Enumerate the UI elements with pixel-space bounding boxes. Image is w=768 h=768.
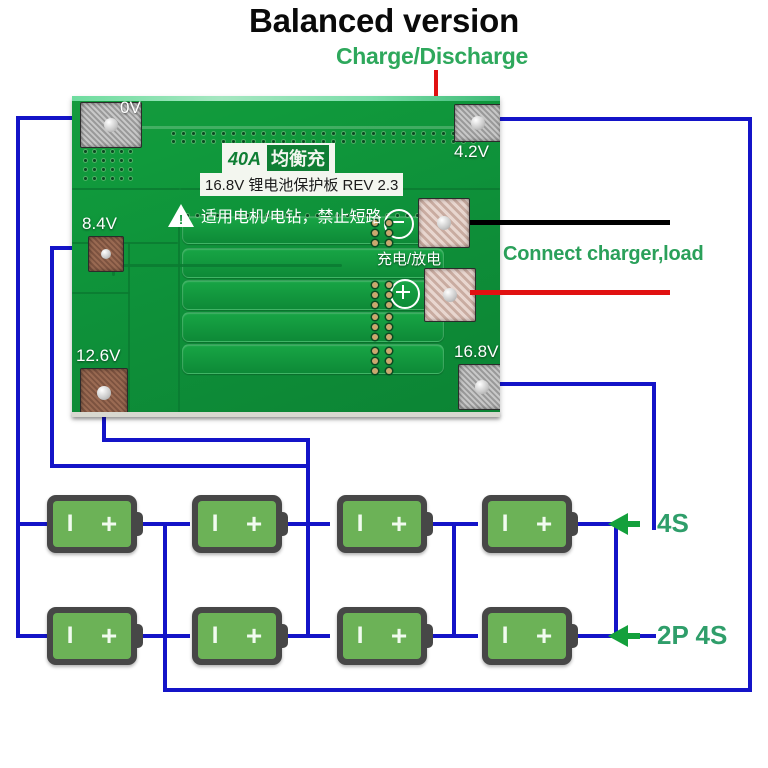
battery-terminal [424,624,433,648]
arrow-left-icon-2p4s [608,625,628,647]
diagram-canvas: Balanced version Charge/Discharge Connec… [0,0,768,768]
tap-label-16p8v: 16.8V [454,342,498,362]
battery-negative-mark: I [67,624,74,648]
connect-charger-load-label: Connect charger,load [503,243,704,266]
wire-parallel-3 [306,522,310,638]
battery-cell[interactable]: I + [482,495,572,553]
battery-terminal [569,624,578,648]
battery-row-label-4s: 4S [657,508,689,539]
pad-hole [101,249,111,259]
wire-negative-lead [470,220,670,225]
battery-terminal [134,512,143,536]
pcb-trace [112,264,342,267]
pcb-strip [182,312,444,342]
plus-circle-icon [390,279,420,309]
battery-negative-mark: I [67,512,74,536]
wire-right-rail [748,117,752,692]
tap-label-12p6v: 12.6V [76,346,120,366]
battery-terminal [134,624,143,648]
pcb-strip [182,344,444,374]
pad-hole [443,288,457,302]
pad-hole [104,118,118,132]
battery-body: I + [53,613,131,659]
bms-board: 40A均衡充 16.8V 锂电池保护板 REV 2.3 适用电机/电钻，禁止短路… [72,96,500,416]
battery-cell[interactable]: I + [47,495,137,553]
charge-discharge-label: Charge/Discharge [336,43,528,70]
battery-body: I + [488,613,566,659]
battery-terminal [424,512,433,536]
pcb-model-line: 16.8V 锂电池保护板 REV 2.3 [200,173,403,196]
pcb-bottom-edge [72,412,500,417]
wire-16p8v-v [652,382,656,530]
pad-16p8v [458,364,500,410]
pcb-trace [128,242,130,416]
tap-label-8p4v: 8.4V [82,214,117,234]
battery-positive-mark: + [246,622,262,650]
battery-body: I + [198,613,276,659]
pcb-trace [72,292,130,294]
battery-body: I + [343,613,421,659]
wire-12p6v-v2 [306,438,310,464]
pcb-trace [178,214,180,416]
pad-hole [475,380,489,394]
pcb-logo-badge: 均衡充 [267,145,329,171]
pad-hole [97,386,111,400]
battery-cell[interactable]: I + [337,607,427,665]
wire-positive-lead [470,290,670,295]
pcb-silk-line [108,126,458,129]
pad-terminal-positive [424,268,476,322]
battery-cell[interactable]: I + [192,607,282,665]
pad-hole [437,216,451,230]
battery-positive-mark: + [391,622,407,650]
wire-parallel-1 [16,522,20,638]
battery-terminal [279,512,288,536]
warning-triangle-icon [168,204,194,227]
arrow-tail [624,633,640,639]
wire-parallel-4 [452,522,456,638]
wire-4p2v-h [470,117,752,121]
battery-cell[interactable]: I + [337,495,427,553]
wire-12p6v-run [102,438,310,442]
battery-negative-mark: I [357,512,364,536]
pcb-warning-line: 适用电机/电钻，禁止短路 [201,203,381,227]
pad-12p6v [80,368,128,416]
pcb-trace [72,188,180,190]
battery-body: I + [343,501,421,547]
pad-terminal-negative [418,198,470,248]
battery-cell[interactable]: I + [47,607,137,665]
pad-8p4v [88,236,124,272]
battery-negative-mark: I [212,624,219,648]
battery-row-label-2p4s: 2P 4S [657,620,727,651]
battery-negative-mark: I [502,624,509,648]
pcb-charge-discharge-cn: 充电/放电 [377,248,441,269]
page-title: Balanced version [0,2,768,40]
pad-4p2v [454,104,500,142]
tap-label-4p2v: 4.2V [454,142,489,162]
tap-label-0v: 0V [120,98,141,118]
battery-negative-mark: I [212,512,219,536]
battery-positive-mark: + [101,510,117,538]
arrow-left-icon-4s [608,513,628,535]
battery-cell[interactable]: I + [482,607,572,665]
battery-cell[interactable]: I + [192,495,282,553]
wire-parallel-5 [614,522,618,638]
battery-body: I + [488,501,566,547]
battery-positive-mark: + [536,510,552,538]
wire-16p8v-h [476,382,656,386]
battery-positive-mark: + [391,510,407,538]
pcb-logo-current: 40A [228,149,261,169]
wire-8p4v-run [50,464,310,468]
wire-8p4v-drop [306,464,310,526]
wire-bottom-return [163,688,752,692]
battery-terminal [279,624,288,648]
battery-body: I + [53,501,131,547]
wire-0v-v [16,116,20,526]
battery-positive-mark: + [246,510,262,538]
battery-terminal [569,512,578,536]
pad-hole [471,116,485,130]
wire-8p4v-v [50,246,54,468]
arrow-tail [624,521,640,527]
battery-positive-mark: + [536,622,552,650]
battery-negative-mark: I [502,512,509,536]
wire-parallel-2 [163,522,167,692]
battery-body: I + [198,501,276,547]
battery-negative-mark: I [357,624,364,648]
battery-positive-mark: + [101,622,117,650]
